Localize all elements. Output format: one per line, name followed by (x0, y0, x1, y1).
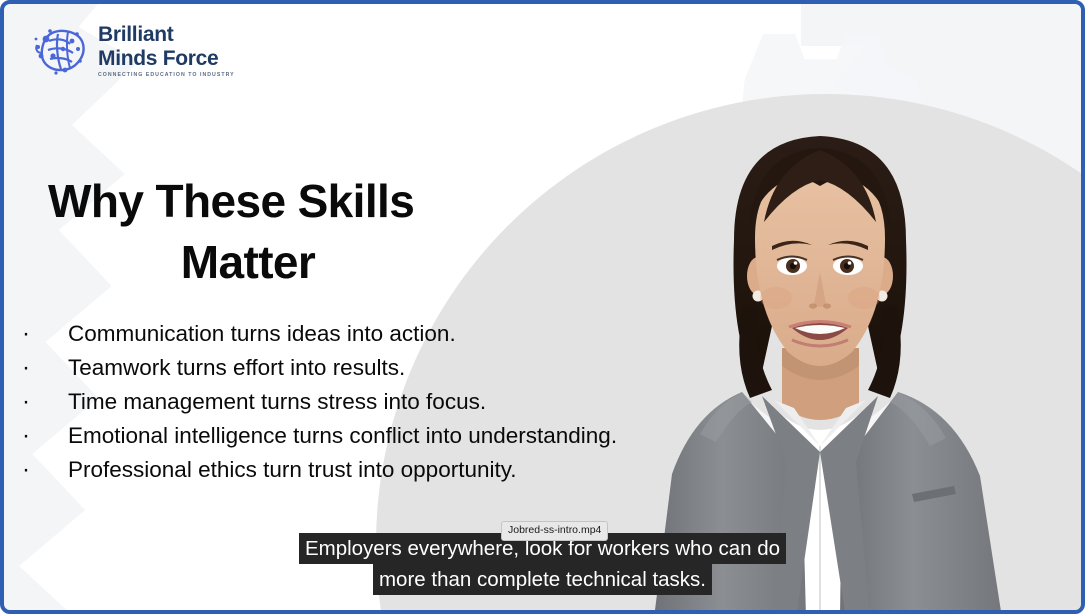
bullet-text: Communication turns ideas into action. (68, 317, 648, 350)
caption-line-2: more than complete technical tasks. (373, 564, 712, 595)
slide-canvas: Brilliant Minds Force CONNECTING EDUCATI… (4, 4, 1081, 610)
brand-name-line2: Minds Force (98, 48, 235, 69)
brand-logo: Brilliant Minds Force CONNECTING EDUCATI… (32, 24, 235, 78)
list-item: · Professional ethics turn trust into op… (18, 453, 648, 486)
bullet-text: Professional ethics turn trust into oppo… (68, 453, 648, 486)
presentation-slide: Brilliant Minds Force CONNECTING EDUCATI… (0, 0, 1085, 614)
bullet-marker-icon: · (18, 351, 68, 384)
brand-wordmark: Brilliant Minds Force CONNECTING EDUCATI… (98, 24, 235, 78)
brand-tagline: CONNECTING EDUCATION TO INDUSTRY (98, 73, 235, 78)
video-caption: Employers everywhere, look for workers w… (4, 533, 1081, 595)
background-gear-left-decor (4, 4, 204, 610)
slide-title: Why These Skills Matter (48, 171, 448, 292)
list-item: · Time management turns stress into focu… (18, 385, 648, 418)
bullet-text: Time management turns stress into focus. (68, 385, 648, 418)
skills-bullet-list: · Communication turns ideas into action.… (18, 317, 648, 487)
slide-title-line2: Matter (48, 232, 448, 293)
bullet-marker-icon: · (18, 419, 68, 452)
slide-title-line1: Why These Skills (48, 171, 448, 232)
bullet-marker-icon: · (18, 385, 68, 418)
bullet-text: Teamwork turns effort into results. (68, 351, 648, 384)
list-item: · Teamwork turns effort into results. (18, 351, 648, 384)
bullet-marker-icon: · (18, 453, 68, 486)
bullet-marker-icon: · (18, 317, 68, 350)
bullet-text: Emotional intelligence turns conflict in… (68, 419, 648, 452)
list-item: · Communication turns ideas into action. (18, 317, 648, 350)
presenter-video-figure (624, 90, 1081, 610)
brain-network-icon (32, 25, 90, 77)
list-item: · Emotional intelligence turns conflict … (18, 419, 648, 452)
brand-name-line1: Brilliant (98, 24, 235, 45)
media-file-name-label: Jobred-ss-intro.mp4 (501, 521, 608, 541)
